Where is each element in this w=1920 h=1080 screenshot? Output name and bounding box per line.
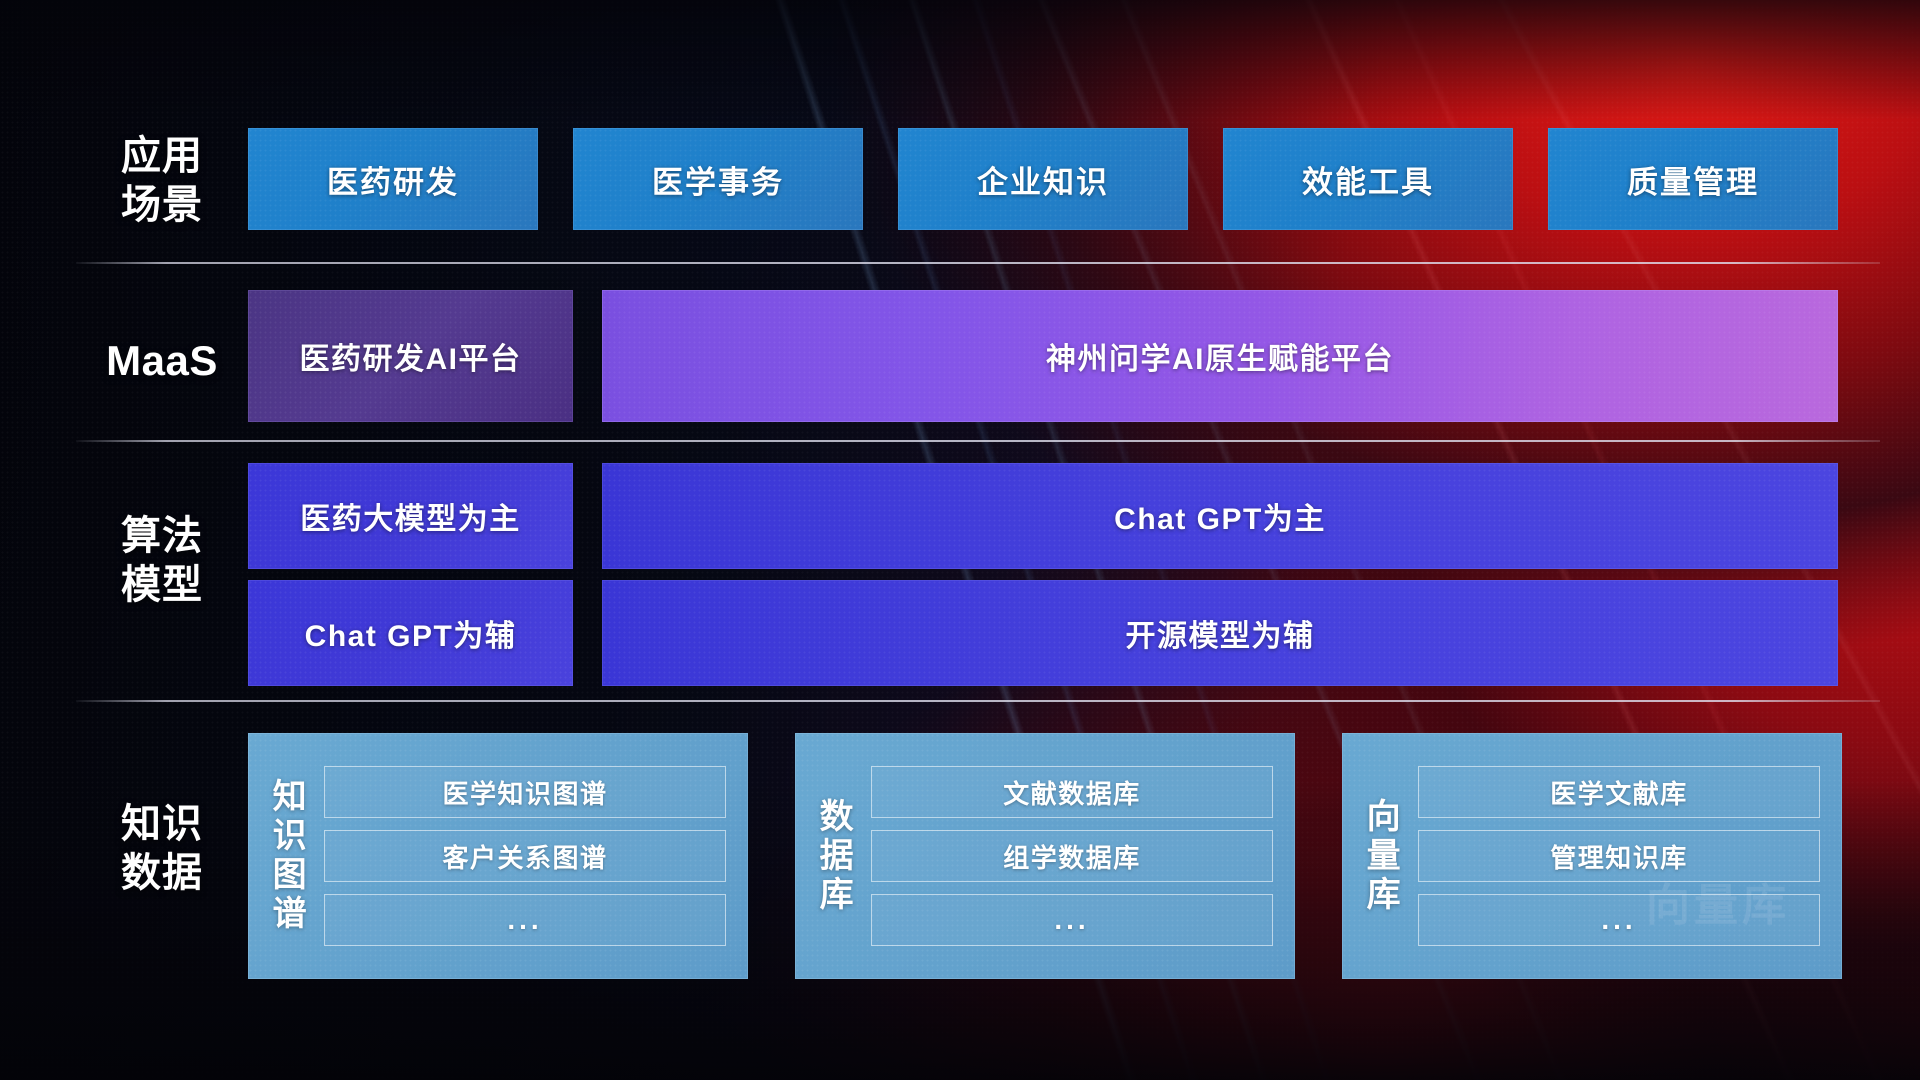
app-scenario-box-2[interactable]: 医学事务 [573, 128, 863, 230]
knowledge-item[interactable]: 组学数据库 [871, 830, 1273, 882]
app-scenario-box-5[interactable]: 质量管理 [1548, 128, 1838, 230]
knowledge-group-vertical-label: 向量库 [1360, 798, 1400, 915]
algo-right-label: Chat GPT为主 [1114, 494, 1326, 538]
knowledge-group-items: 文献数据库 组学数据库 ... [871, 766, 1273, 946]
app-scenario-label: 效能工具 [1302, 157, 1434, 202]
row-label-line: 场景 [76, 181, 248, 230]
algo-left-box-row2[interactable]: Chat GPT为辅 [248, 580, 573, 686]
algo-left-label: Chat GPT为辅 [305, 611, 517, 655]
algo-left-box-row1[interactable]: 医药大模型为主 [248, 463, 573, 569]
row-label-line: 知识 [76, 800, 248, 849]
divider-after-algorithm-models [76, 700, 1880, 702]
knowledge-group-vertical-label: 数据库 [813, 798, 853, 915]
knowledge-group-items: 医学知识图谱 客户关系图谱 ... [324, 766, 726, 946]
knowledge-group-knowledge-graph[interactable]: 知识图谱 医学知识图谱 客户关系图谱 ... [248, 733, 748, 979]
maas-left-box[interactable]: 医药研发AI平台 [248, 290, 573, 422]
row-label-line: MaaS [76, 335, 248, 386]
slide-canvas: 应用 场景 医药研发 医学事务 企业知识 效能工具 质量管理 MaaS [0, 0, 1920, 1080]
maas-right-box[interactable]: 神州问学AI原生赋能平台 [602, 290, 1838, 422]
knowledge-group-vector-store[interactable]: 向量库 向量库 医学文献库 管理知识库 ... [1342, 733, 1842, 979]
algo-left-label: 医药大模型为主 [300, 494, 521, 538]
maas-right-label: 神州问学AI原生赋能平台 [1046, 334, 1394, 378]
knowledge-item[interactable]: 医学知识图谱 [324, 766, 726, 818]
app-scenario-box-3[interactable]: 企业知识 [898, 128, 1188, 230]
knowledge-item-more[interactable]: ... [871, 894, 1273, 946]
knowledge-item[interactable]: 医学文献库 [1418, 766, 1820, 818]
knowledge-group-vertical-label: 知识图谱 [266, 778, 306, 934]
algo-right-box-row2[interactable]: 开源模型为辅 [602, 580, 1838, 686]
row-label-application-scenarios: 应用 场景 [76, 132, 248, 230]
row-label-line: 模型 [76, 561, 248, 610]
divider-after-application-scenarios [76, 262, 1880, 264]
divider-after-maas [76, 440, 1880, 442]
app-scenario-label: 企业知识 [977, 157, 1109, 202]
row-label-line: 应用 [76, 132, 248, 181]
knowledge-item-more[interactable]: ... [1418, 894, 1820, 946]
app-scenario-label: 医学事务 [652, 157, 784, 202]
row-label-line: 数据 [76, 849, 248, 898]
app-scenario-box-4[interactable]: 效能工具 [1223, 128, 1513, 230]
app-scenario-box-1[interactable]: 医药研发 [248, 128, 538, 230]
algo-right-box-row1[interactable]: Chat GPT为主 [602, 463, 1838, 569]
knowledge-item[interactable]: 管理知识库 [1418, 830, 1820, 882]
knowledge-item[interactable]: 客户关系图谱 [324, 830, 726, 882]
algo-right-label: 开源模型为辅 [1126, 611, 1315, 655]
maas-left-label: 医药研发AI平台 [300, 334, 522, 378]
knowledge-item[interactable]: 文献数据库 [871, 766, 1273, 818]
row-label-line: 算法 [76, 512, 248, 561]
knowledge-group-items: 医学文献库 管理知识库 ... [1418, 766, 1820, 946]
knowledge-group-database[interactable]: 数据库 文献数据库 组学数据库 ... [795, 733, 1295, 979]
app-scenario-label: 质量管理 [1627, 157, 1759, 202]
row-label-algorithm-models: 算法 模型 [76, 512, 248, 610]
knowledge-item-more[interactable]: ... [324, 894, 726, 946]
row-label-knowledge-data: 知识 数据 [76, 800, 248, 898]
row-label-maas: MaaS [76, 335, 248, 386]
app-scenario-label: 医药研发 [327, 157, 459, 202]
